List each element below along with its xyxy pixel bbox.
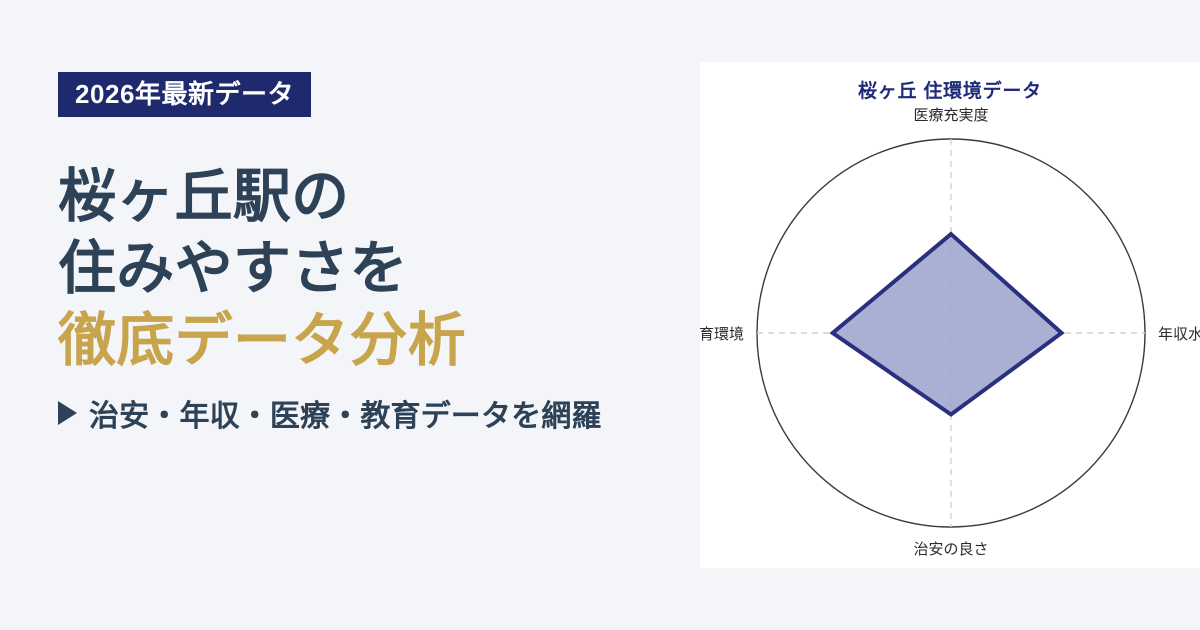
page-title: 桜ヶ丘駅の 住みやすさを 徹底データ分析 [58, 161, 700, 377]
radar-label-bottom: 治安の良さ [913, 541, 988, 558]
subtitle-text: 治安・年収・医療・教育データを網羅 [89, 391, 602, 435]
headline-line-3: 徹底データ分析 [58, 305, 700, 377]
headline-line-1: 桜ヶ丘駅の [58, 161, 700, 233]
triangle-right-icon [58, 401, 77, 425]
subtitle: 治安・年収・医療・教育データを網羅 [58, 391, 700, 435]
radar-chart: 医療充実度 年収水準 治安の良さ 教育環境 [700, 62, 1200, 568]
radar-label-top: 医療充実度 [913, 107, 988, 124]
status-badge: 2026年最新データ [58, 72, 311, 117]
radar-label-left: 教育環境 [700, 325, 744, 343]
chart-card: 桜ヶ丘 住環境データ 医療充実度 年収水準 治安の良さ 教育環境 [700, 62, 1200, 568]
radar-data-polygon [833, 234, 1062, 414]
headline-line-2: 住みやすさを [58, 233, 700, 305]
hero-text-column: 2026年最新データ 桜ヶ丘駅の 住みやすさを 徹底データ分析 治安・年収・医療… [0, 0, 700, 630]
radar-label-right: 年収水準 [1158, 326, 1200, 343]
